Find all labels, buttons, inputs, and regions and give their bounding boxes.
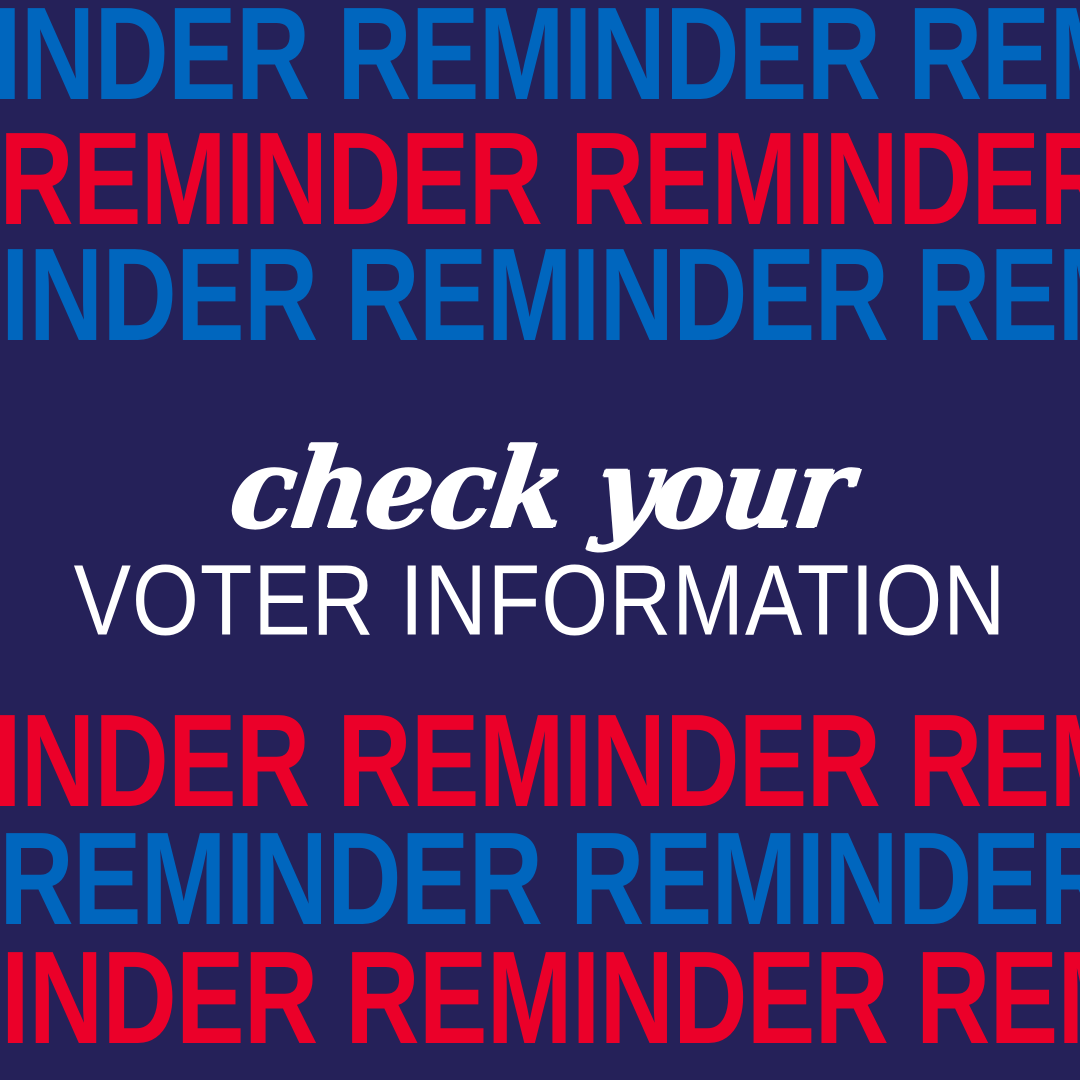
headline-script-line: check your	[224, 433, 857, 545]
reminder-band-bottom-3: MINDER REMINDER REMINDER REMIND	[0, 932, 1080, 1064]
reminder-band-text: ER REMINDER REMINDER REMINDER R	[0, 113, 1080, 245]
reminder-band-bottom-2: ER REMINDER REMINDER REMINDER R	[0, 813, 1080, 945]
reminder-band-text: MINDER REMINDER REMINDER REMIND	[0, 932, 1080, 1064]
reminder-band-top-3: MINDER REMINDER REMINDER REMIND	[0, 229, 1080, 361]
reminder-band-text: MINDER REMINDER REMINDER REMIND	[0, 695, 1080, 827]
reminder-band-top-2: ER REMINDER REMINDER REMINDER R	[0, 113, 1080, 245]
headline-main-line: VOTER INFORMATION	[74, 551, 1007, 651]
reminder-band-top-1: MINDER REMINDER REMINDER REMIND	[0, 0, 1080, 120]
reminder-band-bottom-1: MINDER REMINDER REMINDER REMIND	[0, 695, 1080, 827]
reminder-band-text: ER REMINDER REMINDER REMINDER R	[0, 813, 1080, 945]
reminder-band-text: MINDER REMINDER REMINDER REMIND	[0, 0, 1080, 120]
voter-information-poster: MINDER REMINDER REMINDER REMIND ER REMIN…	[0, 0, 1080, 1080]
headline-block: check your VOTER INFORMATION	[0, 396, 1080, 684]
reminder-band-text: MINDER REMINDER REMINDER REMIND	[0, 229, 1080, 361]
